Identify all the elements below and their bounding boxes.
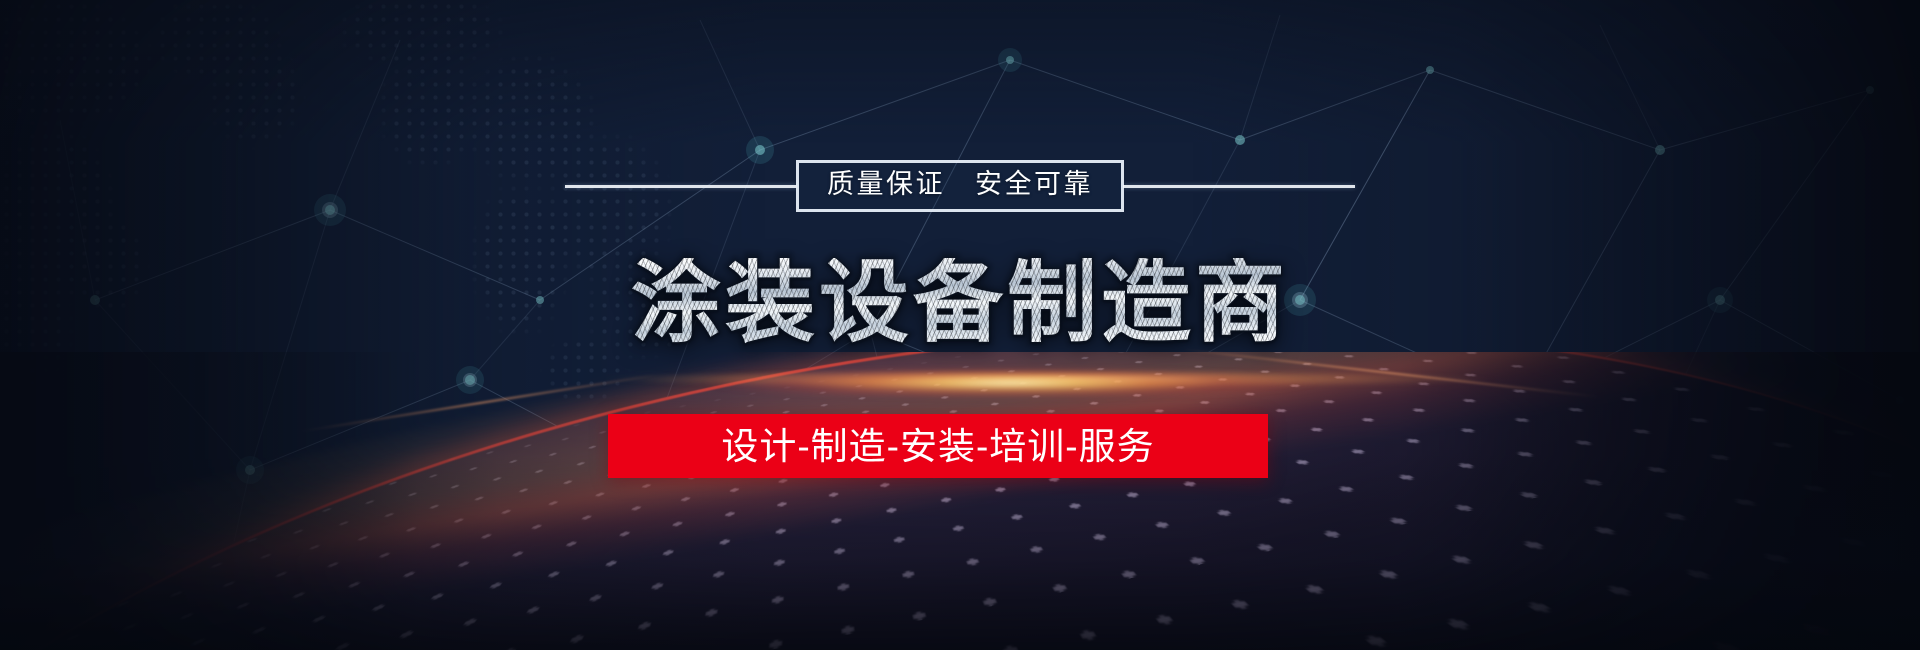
service-banner-text: 设计-制造-安装-培训-服务 <box>721 428 1154 465</box>
page-title: 涂装设备制造商 <box>631 258 1289 348</box>
tagline-row: 质量保证 安全可靠 <box>565 148 1355 224</box>
tagline-box: 质量保证 安全可靠 <box>796 160 1124 212</box>
hero-banner: 质量保证 安全可靠 涂装设备制造商 涂装设备制造商 设计-制造-安装-培训-服务 <box>0 0 1920 650</box>
banner-content: 质量保证 安全可靠 涂装设备制造商 涂装设备制造商 设计-制造-安装-培训-服务 <box>0 0 1920 650</box>
tagline-rule-right <box>1123 185 1355 188</box>
tagline-item-safety: 安全可靠 <box>975 171 1093 198</box>
tagline-item-quality: 质量保证 <box>827 171 945 198</box>
tagline-rule-left <box>565 185 797 188</box>
service-banner: 设计-制造-安装-培训-服务 <box>608 414 1268 478</box>
